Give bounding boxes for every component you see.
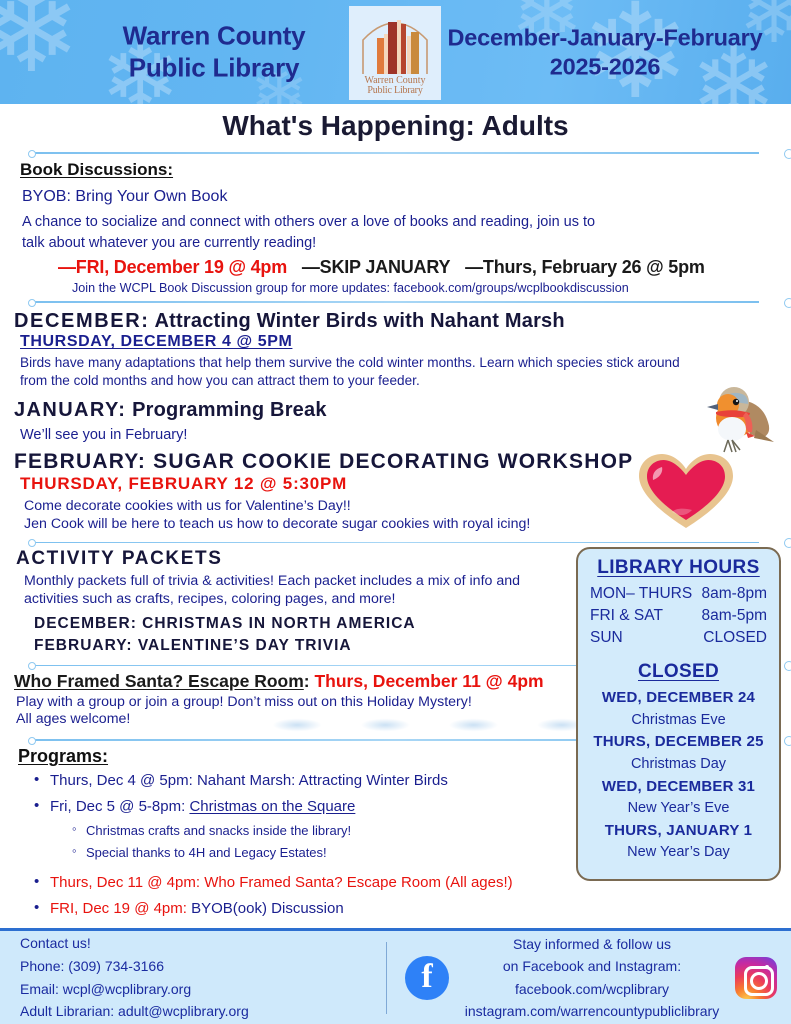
divider-rule — [28, 149, 763, 156]
page-title: What's Happening: Adults — [0, 104, 791, 146]
section-book-discussions: Book Discussions: BYOB: Bring Your Own B… — [14, 158, 777, 295]
closed-holiday-name: Christmas Day — [588, 754, 769, 776]
contact-phone: Phone: (309) 734-3166 — [20, 955, 386, 978]
logo-line2: Public Library — [364, 86, 425, 96]
program-text: BYOB(ook) Discussion — [191, 900, 344, 917]
program-text: Christmas on the Square — [189, 798, 355, 815]
season-line1: December-January-February — [437, 23, 773, 52]
december-label: DECEMBER: — [14, 310, 150, 332]
december-title: Attracting Winter Birds with Nahant Mars… — [150, 310, 565, 332]
closed-date: THURS, DECEMBER 25 — [588, 731, 769, 754]
section-december-event: DECEMBER: Attracting Winter Birds with N… — [14, 307, 777, 388]
contact-email: Email: wcpl@wcplibrary.org — [20, 978, 386, 1001]
december-desc-line2: from the cold months and how you can att… — [14, 372, 777, 389]
december-desc-line1: Birds have many adaptations that help th… — [14, 351, 777, 371]
december-heading: DECEMBER: Attracting Winter Birds with N… — [14, 307, 777, 333]
robin-bird-illustration — [706, 382, 776, 454]
closed-holiday-name: Christmas Eve — [588, 710, 769, 732]
closed-section-title: CLOSED — [588, 661, 769, 683]
program-date: Thurs, Dec 4 @ 5pm — [50, 772, 189, 789]
program-sep: : — [189, 772, 197, 789]
byob-footnote: Join the WCPL Book Discussion group for … — [14, 281, 777, 295]
page-footer: Contact us! Phone: (309) 734-3166 Email:… — [0, 928, 791, 1024]
instagram-url[interactable]: instagram.com/warrencountypubliclibrary — [449, 1000, 735, 1022]
program-date: Thurs, Dec 11 @ 4pm — [50, 874, 196, 891]
social-line2: on Facebook and Instagram: — [449, 955, 735, 977]
byob-desc-line2: talk about whatever you are currently re… — [14, 232, 777, 253]
byob-date-january: —SKIP JANUARY — [302, 257, 450, 277]
logo-wordmark: Warren County Public Library — [364, 76, 425, 96]
january-label: JANUARY: — [14, 399, 126, 421]
hours-time: 8am-5pm — [702, 605, 767, 627]
program-text: Nahant Marsh: Attracting Winter Birds — [197, 772, 448, 789]
program-sep: : — [196, 874, 204, 891]
escape-room-date: Thurs, December 11 @ 4pm — [310, 671, 544, 691]
instagram-icon[interactable] — [735, 957, 777, 999]
january-title: Programming Break — [126, 399, 326, 421]
hours-days: SUN — [590, 627, 623, 649]
logo-books-icon — [349, 10, 441, 76]
facebook-icon[interactable] — [405, 956, 449, 1000]
closed-date: WED, DECEMBER 24 — [588, 687, 769, 710]
instagram-dot — [765, 965, 769, 969]
season-line2: 2025-2026 — [437, 52, 773, 81]
closed-date: THURS, JANUARY 1 — [588, 820, 769, 843]
section-january-event: JANUARY: Programming Break We’ll see you… — [14, 389, 777, 444]
byob-desc-line1: A chance to socialize and connect with o… — [14, 208, 777, 232]
facebook-url[interactable]: facebook.com/wcplibrary — [449, 978, 735, 1000]
closed-holiday-name: New Year’s Day — [588, 842, 769, 864]
byob-date-february: —Thurs, February 26 @ 5pm — [465, 257, 705, 277]
hours-row: FRI & SAT 8am-5pm — [588, 605, 769, 627]
hours-row: SUN CLOSED — [588, 627, 769, 649]
program-date: Fri, Dec 5 @ 5-8pm — [50, 798, 181, 815]
hours-row: MON– THURS 8am-8pm — [588, 583, 769, 605]
social-text: Stay informed & follow us on Facebook an… — [449, 933, 735, 1023]
library-name-line2: Public Library — [64, 52, 364, 84]
library-logo: Warren County Public Library — [349, 6, 441, 100]
social-info: Stay informed & follow us on Facebook an… — [387, 933, 791, 1023]
contact-info: Contact us! Phone: (309) 734-3166 Email:… — [0, 932, 386, 1023]
library-name: Warren County Public Library — [64, 20, 364, 83]
escape-room-title: Who Framed Santa? Escape Room — [14, 671, 304, 691]
library-hours-title: LIBRARY HOURS — [588, 557, 769, 579]
divider-rule — [28, 539, 763, 546]
byob-subtitle: BYOB: Bring Your Own Book — [14, 182, 777, 208]
closed-holiday-name: New Year’s Eve — [588, 798, 769, 820]
contact-title: Contact us! — [20, 932, 386, 955]
december-date: THURSDAY, DECEMBER 4 @ 5PM — [14, 333, 777, 351]
page-header: ❄ ❄ ❄ ❄ ❄ ❄ ❄ Warren County Public Libra… — [0, 0, 791, 104]
hours-days: MON– THURS — [590, 583, 692, 605]
byob-dates-row: —FRI, December 19 @ 4pm —SKIP JANUARY —T… — [14, 252, 777, 281]
closed-date: WED, DECEMBER 31 — [588, 776, 769, 799]
contact-adult-librarian: Adult Librarian: adult@wcplibrary.org — [20, 1000, 386, 1023]
program-sep: : — [183, 900, 191, 917]
library-name-line1: Warren County — [64, 20, 364, 52]
social-line1: Stay informed & follow us — [449, 933, 735, 955]
hours-time: 8am-8pm — [702, 583, 767, 605]
january-desc: We’ll see you in February! — [14, 422, 777, 444]
season-dates: December-January-February 2025-2026 — [437, 23, 773, 80]
program-text: Who Framed Santa? Escape Room (All ages!… — [204, 874, 512, 891]
january-heading: JANUARY: Programming Break — [14, 396, 777, 422]
hours-time: CLOSED — [703, 627, 767, 649]
heart-cookie-illustration — [636, 452, 736, 530]
program-date: FRI, Dec 19 @ 4pm — [50, 900, 183, 917]
library-hours-box: LIBRARY HOURS MON– THURS 8am-8pm FRI & S… — [576, 547, 781, 881]
byob-date-december: —FRI, December 19 @ 4pm — [58, 257, 287, 277]
flyer-page: ❄ ❄ ❄ ❄ ❄ ❄ ❄ Warren County Public Libra… — [0, 0, 791, 1024]
book-discussions-heading: Book Discussions: — [14, 158, 777, 182]
hours-days: FRI & SAT — [590, 605, 663, 627]
program-list-item: FRI, Dec 19 @ 4pm: BYOB(ook) Discussion — [34, 896, 777, 922]
divider-rule — [28, 298, 763, 305]
